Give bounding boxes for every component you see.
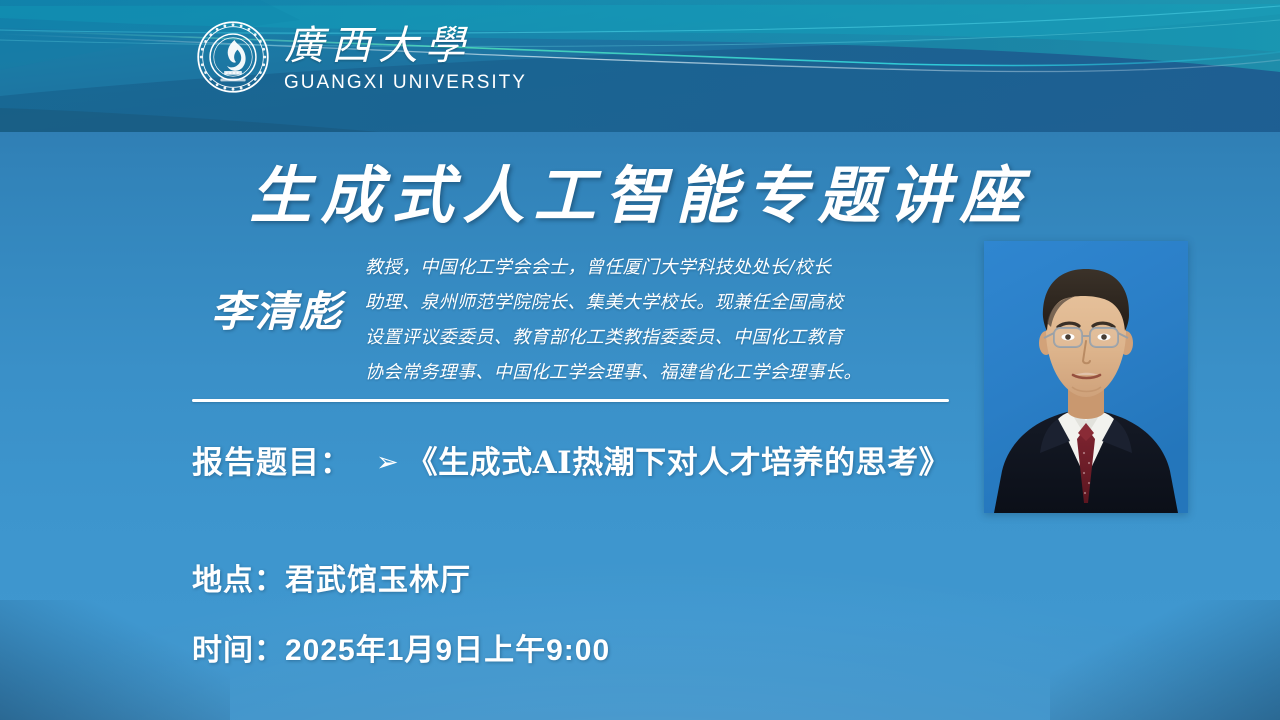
- section-divider: [192, 399, 949, 402]
- bio-line: 助理、泉州师范学院院长、集美大学校长。现兼任全国高校: [365, 285, 945, 320]
- bio-line: 设置评议委委员、教育部化工类教指委委员、中国化工教育: [365, 320, 945, 355]
- header-waves-graphic: [0, 0, 1280, 132]
- speaker-biography: 教授，中国化工学会会士，曾任厦门大学科技处处长/校长 助理、泉州师范学院院长、集…: [365, 250, 945, 390]
- logo-wordmark: 廣西大學 GUANGXI UNIVERSITY: [284, 26, 527, 92]
- guangxi-university-seal-icon: [196, 20, 270, 94]
- speaker-portrait: [984, 241, 1188, 513]
- lecture-time: 时间：2025年1月9日上午9:00: [192, 625, 610, 669]
- arrow-bullet-icon: ➢: [376, 449, 399, 476]
- logo-chinese-name: 廣西大學: [284, 26, 527, 66]
- bottom-right-vignette: [1050, 600, 1280, 720]
- poster-main-title: 生成式人工智能专题讲座: [0, 145, 1280, 235]
- topic-title: 《生成式AI热潮下对人才培养的思考》: [407, 437, 951, 482]
- lecture-poster: 廣西大學 GUANGXI UNIVERSITY 生成式人工智能专题讲座 李清彪 …: [0, 0, 1280, 720]
- university-logo: 廣西大學 GUANGXI UNIVERSITY: [196, 20, 527, 94]
- speaker-portrait-photo: [984, 241, 1188, 513]
- bio-line: 教授，中国化工学会会士，曾任厦门大学科技处处长/校长: [365, 250, 945, 285]
- lecture-venue: 地点：君武馆玉林厅: [192, 555, 471, 599]
- lecture-topic-line: 报告题目： ➢ 《生成式AI热潮下对人才培养的思考》: [192, 437, 950, 482]
- speaker-name: 李清彪: [192, 278, 362, 339]
- logo-english-name: GUANGXI UNIVERSITY: [284, 73, 527, 92]
- header-decoration-band: [0, 0, 1280, 132]
- topic-label: 报告题目：: [192, 437, 352, 482]
- bio-line: 协会常务理事、中国化工学会理事、福建省化工学会理事长。: [365, 355, 945, 390]
